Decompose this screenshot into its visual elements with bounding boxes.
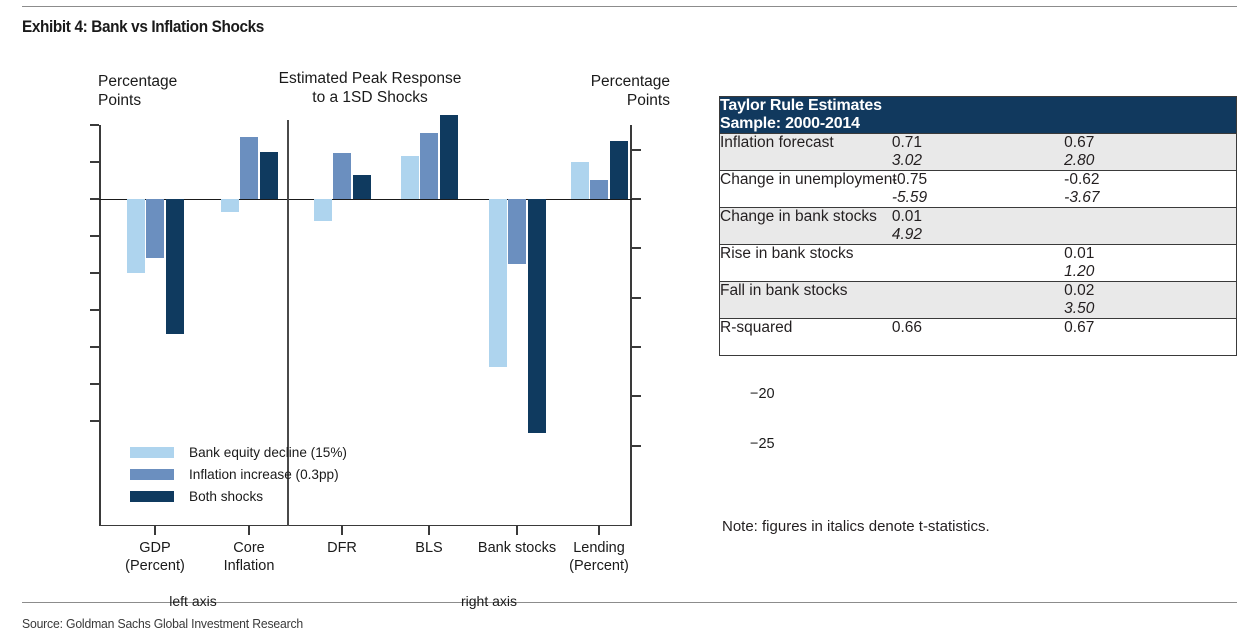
table-tstat-row: -5.59-3.67 [720, 189, 1237, 208]
table-tstat-col1 [892, 263, 1064, 282]
left-tick [90, 235, 99, 237]
table-cell-col2: 0.67 [1064, 134, 1236, 153]
chart-title-line1: Estimated Peak Response [240, 69, 500, 88]
table-row: Change in bank stocks0.01 [720, 208, 1237, 227]
table-header-sample: Sample: 2000-2014 [720, 115, 1237, 134]
table-note: Note: figures in italics denote t-statis… [722, 518, 990, 535]
table-tstat-col1 [892, 300, 1064, 319]
right-axis-caption: Percentage Points [540, 72, 670, 110]
table-cell-col1 [892, 282, 1064, 301]
table-cell-col1: -0.75 [892, 171, 1064, 190]
bar [333, 153, 351, 199]
bar [260, 152, 278, 199]
table-row: Inflation forecast0.710.67 [720, 134, 1237, 153]
chart-title-line2: to a 1SD Shocks [240, 88, 500, 107]
left-axis-caption-line1: Percentage [98, 72, 177, 91]
legend-swatch [130, 469, 174, 480]
right-axis-caption-line1: Percentage [540, 72, 670, 91]
left-tick [90, 309, 99, 311]
table-cell-col2: 0.02 [1064, 282, 1236, 301]
table-tstat-spacer [720, 152, 892, 171]
chart-panel: Percentage Points Estimated Peak Respons… [0, 52, 700, 572]
axis-group-label: left axis [123, 593, 263, 609]
table-row-label: Change in bank stocks [720, 208, 892, 227]
table-cell-col1 [892, 245, 1064, 264]
bar [610, 141, 628, 199]
left-tick [90, 198, 99, 200]
plot-area: 0.500.250.00−0.25−0.50−0.75−1.00−1.25−1.… [99, 125, 632, 526]
table-tstat-spacer [720, 300, 892, 319]
table-tstat-row [720, 337, 1237, 356]
bar [489, 199, 507, 367]
legend-label: Both shocks [189, 489, 263, 504]
left-tick [90, 161, 99, 163]
left-tick [90, 272, 99, 274]
legend: Bank equity decline (15%)Inflation incre… [130, 441, 347, 507]
bar [571, 162, 589, 199]
table-tstat-spacer [720, 226, 892, 245]
right-tick [632, 149, 641, 151]
table-header-title: Taylor Rule Estimates [720, 97, 1237, 116]
table-tstat-spacer [720, 337, 892, 356]
table-tstat-col1: 4.92 [892, 226, 1064, 245]
bar [528, 199, 546, 433]
x-tick [428, 526, 430, 535]
bar [240, 137, 258, 199]
table-row: Fall in bank stocks0.02 [720, 282, 1237, 301]
table-cell-col1: 0.66 [892, 319, 1064, 338]
left-axis-caption: Percentage Points [98, 72, 177, 110]
table-tstat-col2 [1064, 337, 1236, 356]
table-cell-col1: 0.71 [892, 134, 1064, 153]
top-divider [22, 6, 1237, 7]
bar [166, 199, 184, 334]
table-row: R-squared0.660.67 [720, 319, 1237, 338]
table-row: Rise in bank stocks0.01 [720, 245, 1237, 264]
bar [590, 180, 608, 199]
table-row-label: Rise in bank stocks [720, 245, 892, 264]
table-subheader-row: Sample: 2000-2014 [720, 115, 1237, 134]
table-tstat-col2 [1064, 226, 1236, 245]
table-tstat-col2: 2.80 [1064, 152, 1236, 171]
table-cell-col2 [1064, 208, 1236, 227]
table-tstat-col2: -3.67 [1064, 189, 1236, 208]
table-cell-col2: -0.62 [1064, 171, 1236, 190]
table-row-label: Change in unemployment [720, 171, 892, 190]
source-note: Source: Goldman Sachs Global Investment … [22, 616, 303, 631]
bar [420, 133, 438, 199]
chart-title: Estimated Peak Response to a 1SD Shocks [240, 69, 500, 107]
table-row: Change in unemployment-0.75-0.62 [720, 171, 1237, 190]
left-tick [90, 346, 99, 348]
right-tick [632, 198, 641, 200]
table-cell-col2: 0.01 [1064, 245, 1236, 264]
table-tstat-col2: 3.50 [1064, 300, 1236, 319]
legend-item: Bank equity decline (15%) [130, 441, 347, 463]
table-cell-col1: 0.01 [892, 208, 1064, 227]
table-row-label: R-squared [720, 319, 892, 338]
table-tstat-col1: 3.02 [892, 152, 1064, 171]
bar [508, 199, 526, 264]
table-tstat-col1 [892, 337, 1064, 356]
x-tick [598, 526, 600, 535]
table-tstat-col2: 1.20 [1064, 263, 1236, 282]
bar [221, 199, 239, 212]
x-label-line1: Lending [531, 539, 667, 557]
table-cell-col2: 0.67 [1064, 319, 1236, 338]
x-tick [341, 526, 343, 535]
right-tick-label: −25 [750, 436, 775, 452]
table-tstat-spacer [720, 189, 892, 208]
table-tstat-spacer [720, 263, 892, 282]
legend-item: Both shocks [130, 485, 347, 507]
taylor-rule-table: Taylor Rule Estimates Sample: 2000-2014 … [719, 96, 1237, 356]
left-tick [90, 124, 99, 126]
right-tick [632, 346, 641, 348]
table-tstat-row: 3.022.80 [720, 152, 1237, 171]
x-tick [516, 526, 518, 535]
legend-swatch [130, 447, 174, 458]
table-tstat-col1: -5.59 [892, 189, 1064, 208]
right-tick [632, 297, 641, 299]
right-tick-label: −20 [750, 386, 775, 402]
legend-label: Inflation increase (0.3pp) [189, 467, 339, 482]
left-tick [90, 420, 99, 422]
right-tick [632, 247, 641, 249]
legend-swatch [130, 491, 174, 502]
right-tick [632, 395, 641, 397]
table-tstat-row: 3.50 [720, 300, 1237, 319]
right-tick [632, 445, 641, 447]
legend-label: Bank equity decline (15%) [189, 445, 347, 460]
x-tick [248, 526, 250, 535]
right-axis-caption-line2: Points [540, 91, 670, 110]
axis-group-label: right axis [419, 593, 559, 609]
legend-item: Inflation increase (0.3pp) [130, 463, 347, 485]
bar [353, 175, 371, 199]
x-label-line2: (Percent) [531, 557, 667, 575]
left-axis-caption-line2: Points [98, 91, 177, 110]
table-row-label: Fall in bank stocks [720, 282, 892, 301]
bar [440, 115, 458, 199]
bar [401, 156, 419, 199]
left-tick [90, 383, 99, 385]
x-label-line2: Inflation [181, 557, 317, 575]
taylor-rule-table-panel: Taylor Rule Estimates Sample: 2000-2014 … [719, 96, 1237, 356]
table-tstat-row: 4.92 [720, 226, 1237, 245]
table-tstat-row: 1.20 [720, 263, 1237, 282]
x-tick [154, 526, 156, 535]
table-header-row: Taylor Rule Estimates [720, 97, 1237, 116]
bar [146, 199, 164, 258]
bar [127, 199, 145, 273]
page-title: Exhibit 4: Bank vs Inflation Shocks [22, 18, 264, 37]
x-axis-label: Lending(Percent) [531, 539, 667, 575]
table-row-label: Inflation forecast [720, 134, 892, 153]
bar [314, 199, 332, 221]
